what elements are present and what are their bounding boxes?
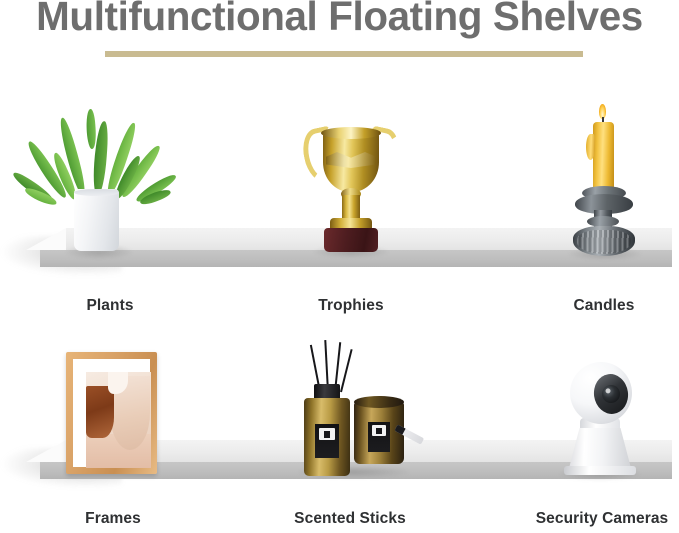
diffuser-reed-4 xyxy=(340,349,353,392)
title-underline-rule xyxy=(105,51,583,57)
picture-frame-mat xyxy=(73,359,150,467)
caption-plants: Plants xyxy=(46,297,174,315)
plants-object xyxy=(44,105,164,255)
trophy-base xyxy=(324,228,378,252)
candle-holder-fluting xyxy=(577,230,631,254)
caption-trophies: Trophies xyxy=(287,297,415,315)
diffuser-label-emblem xyxy=(319,428,335,440)
caption-frames: Frames xyxy=(49,510,177,528)
picture-frame-border xyxy=(66,352,157,474)
camera-lens xyxy=(601,384,621,404)
candles-object xyxy=(573,98,635,258)
plant-pot xyxy=(74,189,119,251)
camera-base-lip xyxy=(564,466,636,475)
caption-scented-sticks: Scented Sticks xyxy=(286,510,414,528)
infographic-canvas: Multifunctional Floating Shelves xyxy=(0,0,679,533)
page-title: Multifunctional Floating Shelves xyxy=(5,0,674,40)
frames-object xyxy=(66,352,161,478)
caption-candles: Candles xyxy=(540,297,668,315)
candle-wax-drip xyxy=(586,134,595,160)
diffuser-bottle xyxy=(304,398,350,476)
scented-sticks-object xyxy=(296,340,416,480)
picture-frame-artwork xyxy=(86,372,151,468)
candle-jar-label xyxy=(368,422,390,452)
artwork-shape-terracotta xyxy=(86,386,114,438)
candle-wax xyxy=(593,122,614,192)
trophy-rim xyxy=(321,127,381,139)
caption-security-cameras: Security Cameras xyxy=(529,510,675,528)
trophies-object xyxy=(302,100,400,255)
candle-jar-rim xyxy=(354,396,404,408)
diffuser-label xyxy=(315,424,339,458)
candle-jar-label-emblem xyxy=(372,425,386,436)
security-cameras-object xyxy=(554,356,648,480)
bottom-shelf-left-bevel xyxy=(26,440,66,462)
